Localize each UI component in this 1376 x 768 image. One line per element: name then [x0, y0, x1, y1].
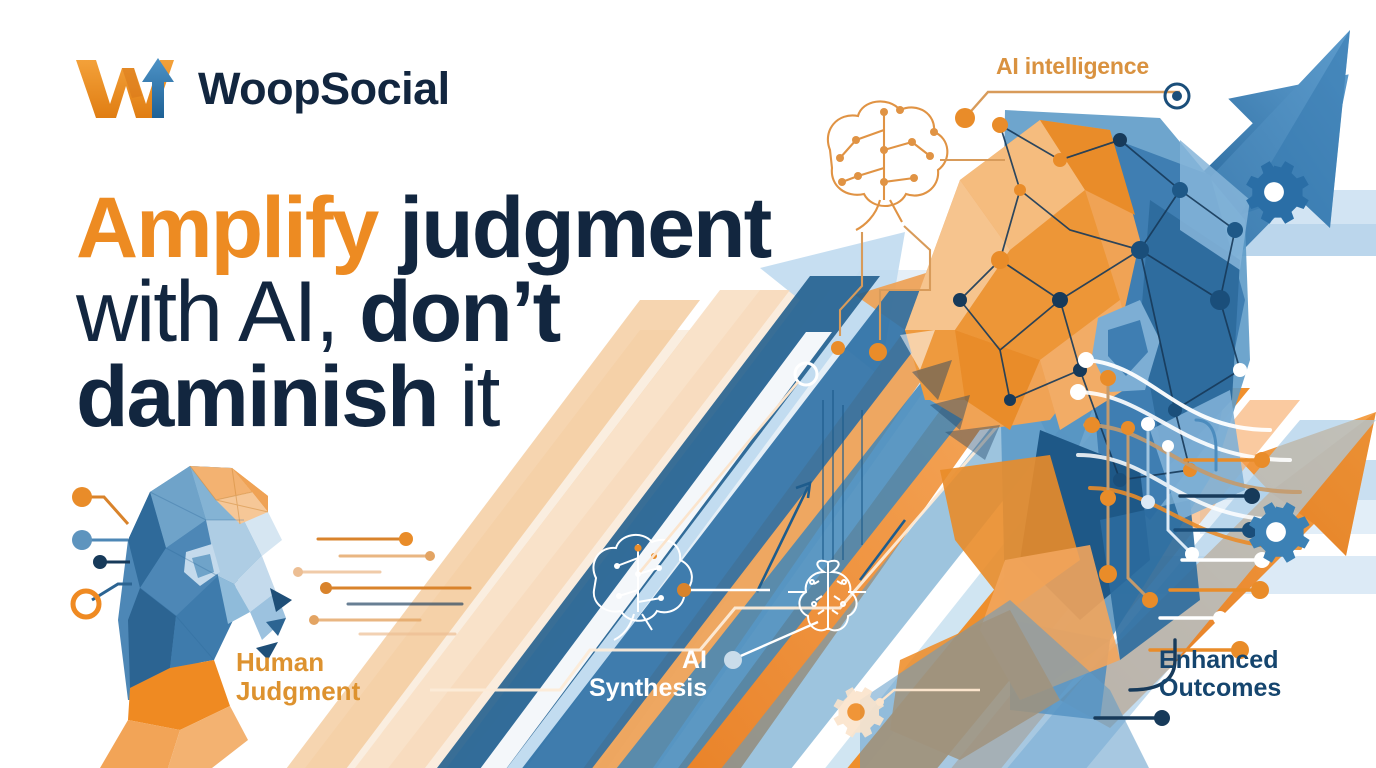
- callout-label-enhanced-outcomes: Enhanced Outcomes: [1159, 646, 1281, 702]
- brand-name: WoopSocial: [198, 66, 450, 111]
- page-title: Amplify judgment with AI, don’t daminish…: [76, 186, 866, 439]
- callout-label-ai-intelligence: AI intelligence: [996, 54, 1149, 80]
- headline-accent: Amplify: [76, 180, 377, 276]
- headline-line-3: daminish it: [76, 355, 866, 439]
- brand-logo[interactable]: WoopSocial: [70, 52, 450, 124]
- headline-line2-bold: don’t: [359, 264, 559, 360]
- headline-line-1: Amplify judgment: [76, 186, 866, 270]
- hero-banner: WoopSocial Amplify judgment with AI, don…: [0, 0, 1376, 768]
- callout-label-human-judgment: Human Judgment: [236, 648, 360, 706]
- headline-line3-bold: daminish: [76, 349, 438, 445]
- headline-line1-rest: judgment: [377, 180, 770, 276]
- wire-node: [1078, 352, 1094, 368]
- woopsocial-w-arrow-logo: [70, 52, 182, 124]
- headline-line3-light: it: [438, 349, 499, 445]
- headline-line2-light: with AI,: [76, 264, 359, 360]
- headline-line-2: with AI, don’t: [76, 270, 866, 354]
- callout-label-ai-synthesis: AI Synthesis: [589, 646, 707, 702]
- circuit-node: [869, 343, 887, 361]
